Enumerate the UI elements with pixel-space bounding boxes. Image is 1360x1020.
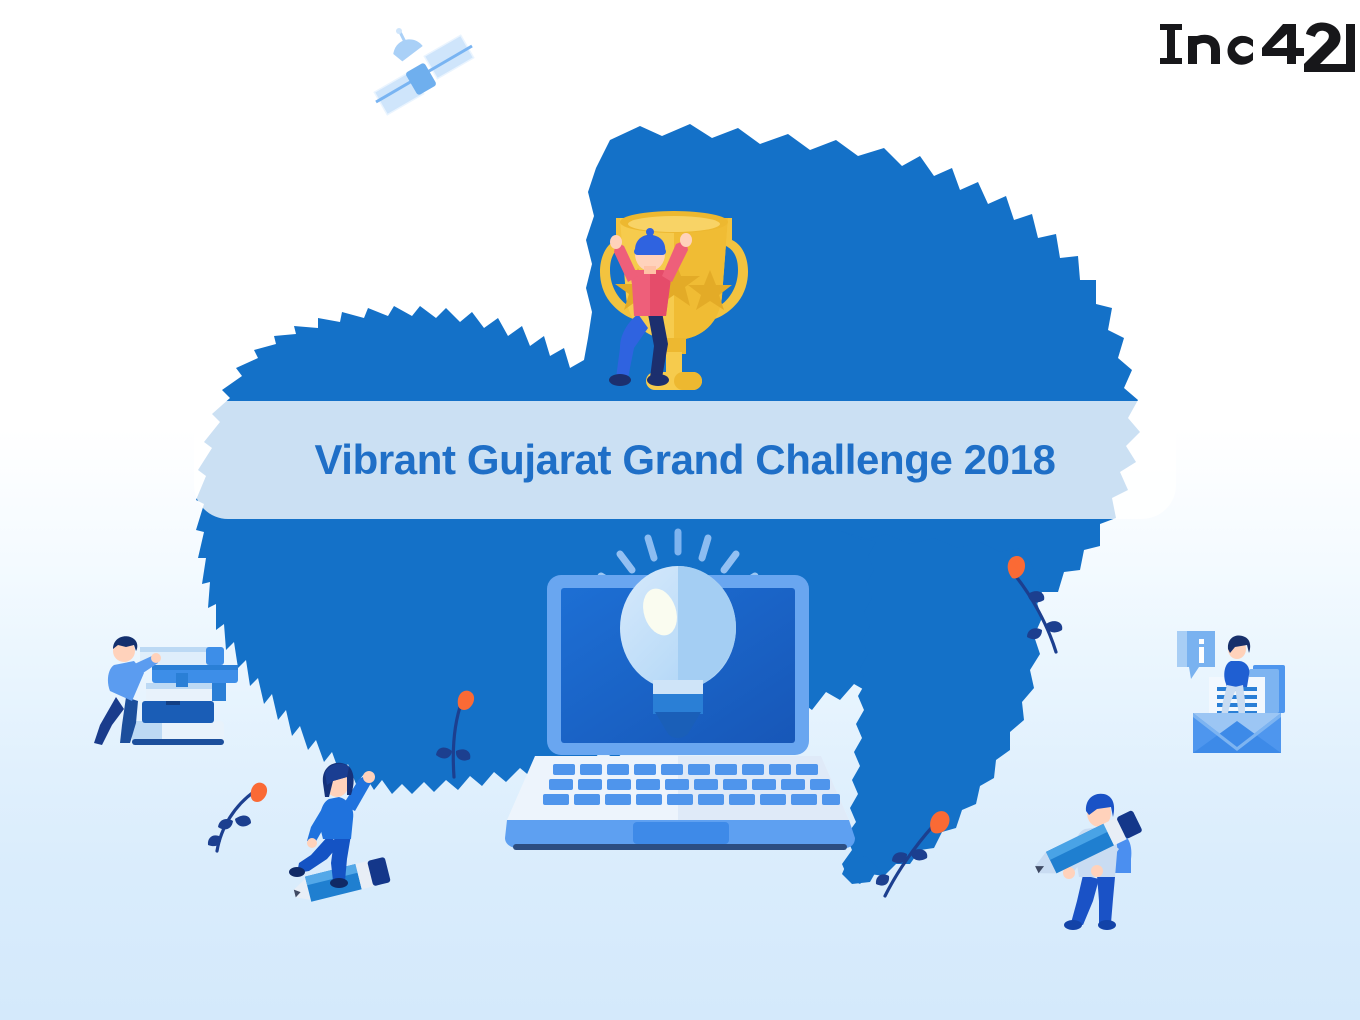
flower-mid-left-icon [432, 685, 492, 780]
flower-upper-right-icon [990, 552, 1080, 657]
banner-image: Vibrant Gujarat Grand Challenge 2018 [0, 0, 1360, 1020]
satellite-icon [360, 20, 480, 130]
person-pushing-books-illustration [88, 625, 248, 755]
page-title: Vibrant Gujarat Grand Challenge 2018 [194, 401, 1176, 519]
laptop-lightbulb-illustration [505, 520, 855, 850]
woman-on-pencil-illustration [285, 755, 405, 905]
trophy-illustration [576, 196, 772, 396]
info-bubble-icon [1177, 631, 1215, 679]
inc42-logo[interactable] [1156, 14, 1360, 76]
flower-lower-right-icon [875, 800, 965, 900]
man-carrying-pencil-illustration [1035, 785, 1165, 935]
envelope-document-illustration [1175, 625, 1295, 755]
flower-left-icon [205, 775, 275, 855]
